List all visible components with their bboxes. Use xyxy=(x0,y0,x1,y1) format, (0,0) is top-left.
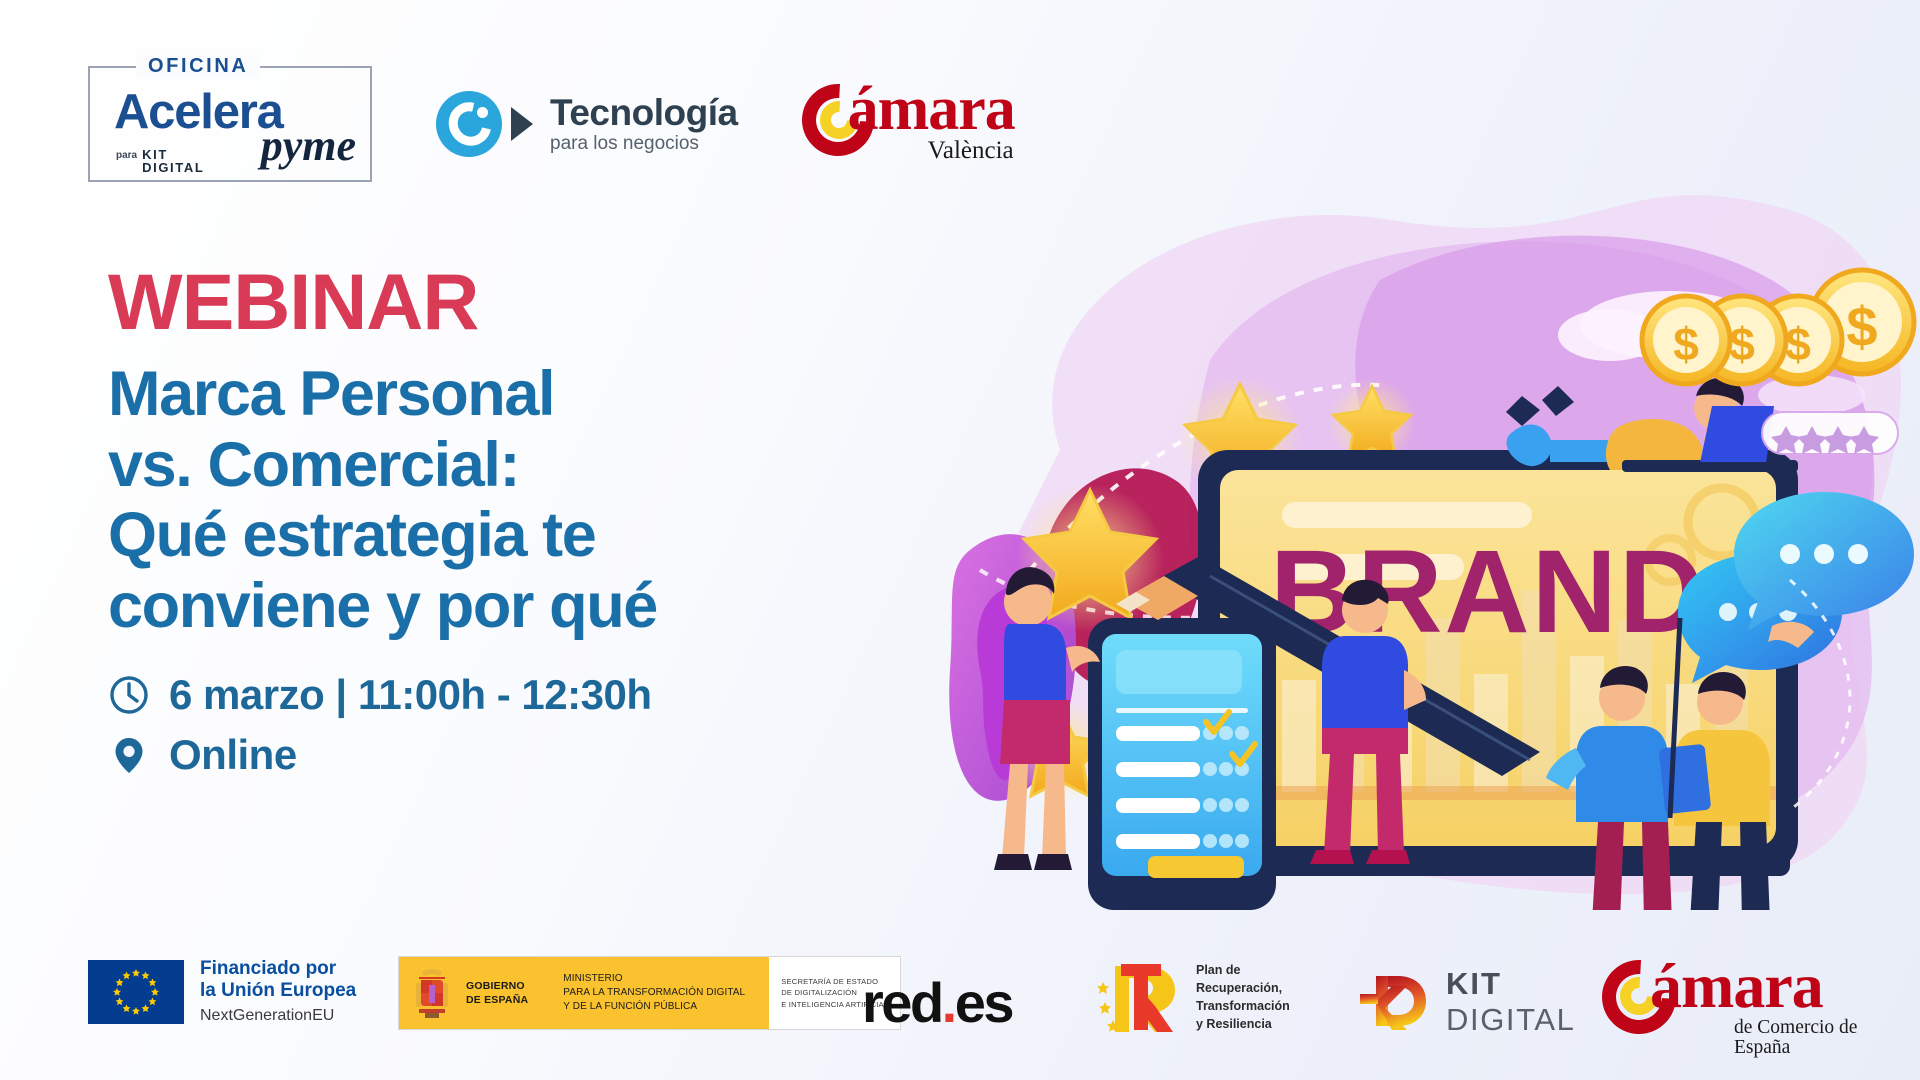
event-location-text: Online xyxy=(169,731,297,779)
main-content: WEBINAR Marca Personal vs. Comercial: Qu… xyxy=(108,262,948,791)
eu-flag-icon xyxy=(88,960,184,1024)
eu-line-3: NextGenerationEU xyxy=(200,1007,356,1026)
prtr-line-2: Recuperación, xyxy=(1196,979,1290,997)
page-title: Marca Personal vs. Comercial: Qué estrat… xyxy=(108,359,948,641)
tecnologia-subtitle: para los negocios xyxy=(550,134,738,154)
title-line-1: Marca Personal xyxy=(108,359,948,430)
acelera-pyme-word: pyme xyxy=(261,124,356,168)
footer-logo-bar: Financiado por la Unión Europea NextGene… xyxy=(0,948,1920,1058)
gobierno-block: GOBIERNO DE ESPAÑA MINISTERIO PARA LA TR… xyxy=(399,957,769,1029)
header-logo-bar: OFICINA Acelera pyme para KIT DIGITAL Te… xyxy=(88,66,1072,182)
tecnologia-text: Tecnología para los negocios xyxy=(550,94,738,155)
eu-line-1: Financiado por xyxy=(200,958,356,980)
clock-icon xyxy=(108,674,150,716)
ministerio-text: MINISTERIO PARA LA TRANSFORMACIÓN DIGITA… xyxy=(551,972,757,1015)
svg-text:$: $ xyxy=(1846,295,1877,358)
event-meta: 6 marzo | 11:00h - 12:30h Online xyxy=(108,671,948,779)
svg-text:$: $ xyxy=(1729,318,1755,370)
redes-part-1: red xyxy=(862,971,942,1034)
prtr-line-3: Transformación xyxy=(1196,997,1290,1015)
acelera-word: Acelera xyxy=(114,88,283,137)
camara-espana-subtitle: de Comercio de España xyxy=(1734,1018,1902,1057)
eu-text: Financiado por la Unión Europea NextGene… xyxy=(200,958,356,1026)
eu-line-2: la Unión Europea xyxy=(200,980,356,1002)
camara-espana-word: ámara xyxy=(1650,954,1823,1018)
kit-digital-mark-icon xyxy=(1352,964,1432,1038)
brand-illustration: BRAND xyxy=(910,150,1920,910)
acelera-kit-line2: DIGITAL xyxy=(142,160,204,175)
prtr-text: Plan de Recuperación, Transformación y R… xyxy=(1196,961,1290,1034)
prtr-mark-icon xyxy=(1097,960,1183,1034)
logo-kit-digital: KIT DIGITAL xyxy=(1352,964,1575,1038)
ministerio-line-2: PARA LA TRANSFORMACIÓN DIGITAL xyxy=(563,986,745,1000)
chevron-right-icon xyxy=(511,107,533,141)
event-location-row: Online xyxy=(108,731,948,779)
svg-text:$: $ xyxy=(1673,318,1699,370)
gobierno-text: GOBIERNO DE ESPAÑA xyxy=(466,979,528,1007)
svg-text:$: $ xyxy=(1785,318,1811,370)
title-line-2: vs. Comercial: xyxy=(108,430,948,501)
gobierno-line-2: DE ESPAÑA xyxy=(466,993,528,1007)
prtr-line-4: y Resiliencia xyxy=(1196,1015,1290,1033)
logo-acelera-pyme: OFICINA Acelera pyme para KIT DIGITAL xyxy=(88,66,372,182)
event-datetime-row: 6 marzo | 11:00h - 12:30h xyxy=(108,671,948,719)
camara-valencia-word: ámara xyxy=(848,78,1015,140)
acelera-kit-lines: KIT DIGITAL xyxy=(142,148,204,175)
logo-financiado-union-europea: Financiado por la Unión Europea NextGene… xyxy=(88,958,356,1026)
acelera-para-label: para xyxy=(116,148,137,161)
tecnologia-c-icon xyxy=(436,91,502,157)
ministerio-line-1: MINISTERIO xyxy=(563,972,745,986)
logo-camara-comercio-espana: ámara de Comercio de España xyxy=(1602,956,1902,1048)
prtr-line-1: Plan de xyxy=(1196,961,1290,979)
logo-red-es: red.es xyxy=(862,970,1012,1035)
tecnologia-c-dot xyxy=(477,107,488,118)
tecnologia-title: Tecnología xyxy=(550,94,738,133)
redes-dot: . xyxy=(942,971,955,1034)
title-line-4: conviene y por qué xyxy=(108,571,948,642)
webinar-kicker: WEBINAR xyxy=(108,262,948,341)
camara-valencia-subtitle: València xyxy=(928,138,1014,163)
acelera-kit-digital-tag: para KIT DIGITAL xyxy=(116,148,204,175)
kit-digital-line-2: DIGITAL xyxy=(1446,1004,1575,1035)
gobierno-line-1: GOBIERNO xyxy=(466,979,528,993)
event-datetime-text: 6 marzo | 11:00h - 12:30h xyxy=(169,671,651,719)
title-line-3: Qué estrategia te xyxy=(108,500,948,571)
kit-digital-text: KIT DIGITAL xyxy=(1446,968,1575,1035)
ministerio-line-3: Y DE LA FUNCIÓN PÚBLICA xyxy=(563,1000,745,1014)
acelera-oficina-label: OFICINA xyxy=(136,55,260,78)
logo-camara-valencia: ámara València xyxy=(802,78,1072,170)
kit-digital-line-1: KIT xyxy=(1446,968,1575,999)
logo-tecnologia-negocios: Tecnología para los negocios xyxy=(436,91,738,157)
spain-coat-of-arms-icon xyxy=(409,965,455,1021)
eu-stars-svg xyxy=(88,960,184,1024)
location-pin-icon xyxy=(108,734,150,776)
logo-plan-recuperacion: Plan de Recuperación, Transformación y R… xyxy=(1097,960,1290,1034)
redes-part-2: es xyxy=(955,971,1012,1034)
logo-gobierno-espana: GOBIERNO DE ESPAÑA MINISTERIO PARA LA TR… xyxy=(398,956,901,1030)
